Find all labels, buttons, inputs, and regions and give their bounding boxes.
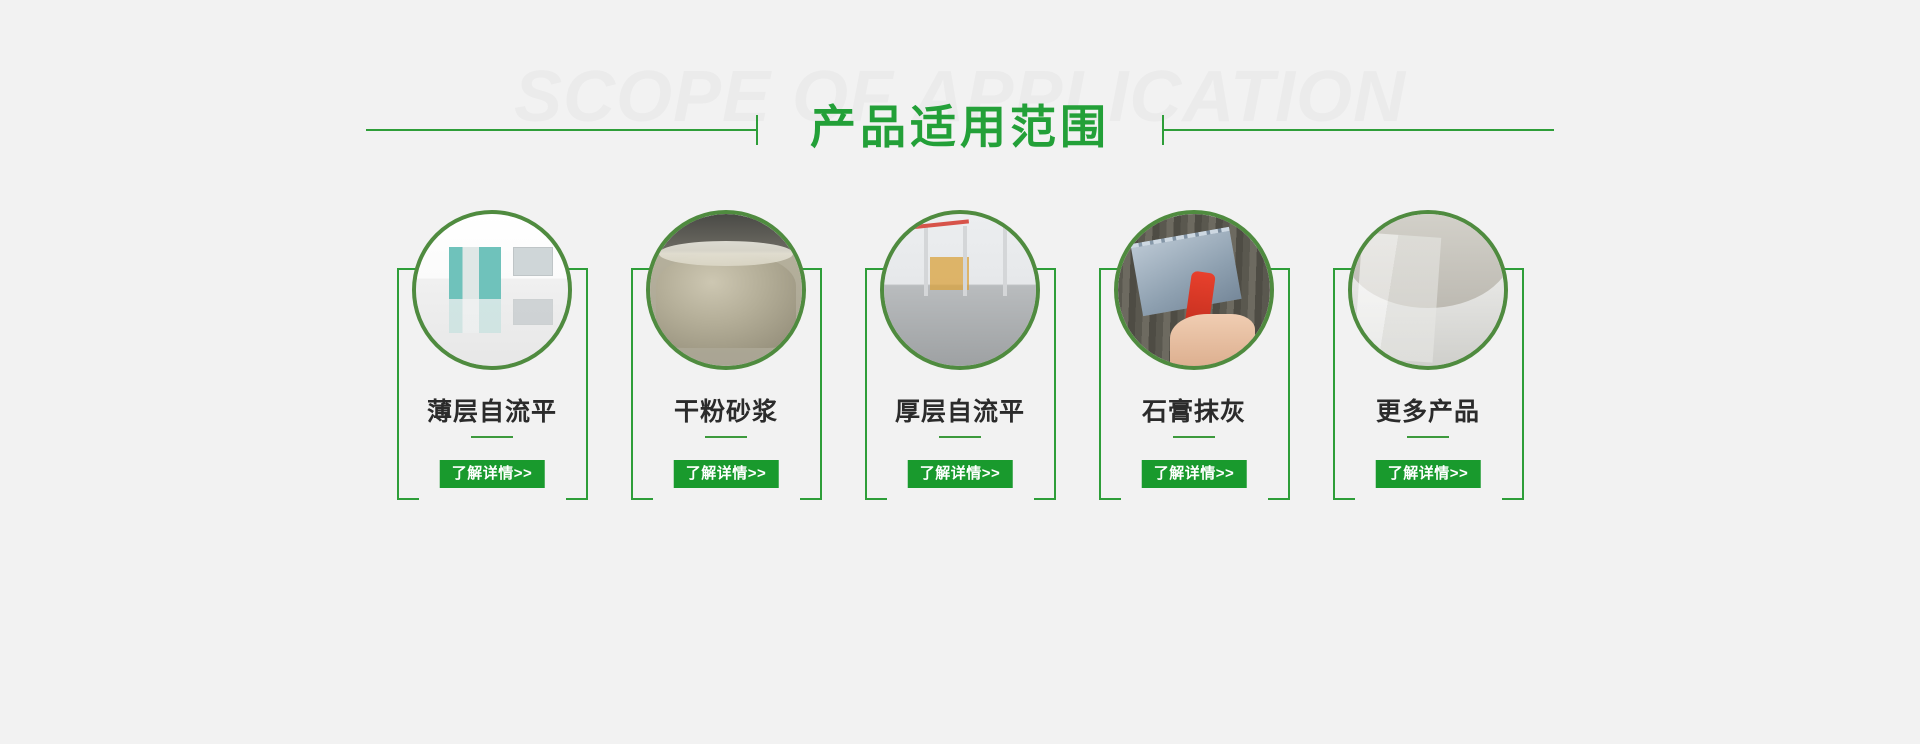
frame-corner-bottom-right: [1268, 498, 1290, 500]
frame-left-edge: [865, 268, 867, 500]
frame-right-edge: [586, 268, 588, 500]
frame-corner-bottom-left: [397, 498, 419, 500]
learn-more-button[interactable]: 了解详情>>: [908, 460, 1013, 488]
card-title: 更多产品: [1326, 392, 1531, 428]
frame-right-edge: [1054, 268, 1056, 500]
title-tick-left: [756, 115, 758, 145]
product-card[interactable]: 厚层自流平 了解详情>>: [858, 210, 1063, 510]
dry-powder-mortar-bag-photo: [650, 214, 802, 366]
card-thumbnail[interactable]: [412, 210, 572, 370]
frame-corner-bottom-right: [1034, 498, 1056, 500]
learn-more-button[interactable]: 了解详情>>: [674, 460, 779, 488]
product-card-list: 薄层自流平 了解详情>> 干粉砂浆 了解详情>>: [0, 210, 1920, 530]
frame-right-edge: [1288, 268, 1290, 500]
card-title: 石膏抹灰: [1092, 392, 1297, 428]
frame-right-edge: [820, 268, 822, 500]
card-title: 厚层自流平: [858, 392, 1063, 428]
frame-corner-bottom-left: [1099, 498, 1121, 500]
card-thumbnail[interactable]: [880, 210, 1040, 370]
more-products-disc-photo: [1352, 214, 1504, 366]
card-divider: [471, 436, 513, 438]
title-row: 产品适用范围: [0, 104, 1920, 156]
card-divider: [705, 436, 747, 438]
card-thumbnail[interactable]: [646, 210, 806, 370]
product-card[interactable]: 干粉砂浆 了解详情>>: [624, 210, 829, 510]
thin-layer-self-leveling-floor-photo: [416, 214, 568, 366]
page-title: 产品适用范围: [806, 104, 1114, 156]
frame-corner-bottom-left: [1333, 498, 1355, 500]
frame-left-edge: [631, 268, 633, 500]
frame-left-edge: [1333, 268, 1335, 500]
learn-more-button[interactable]: 了解详情>>: [1376, 460, 1481, 488]
title-rule-left: [366, 129, 756, 131]
product-card[interactable]: 更多产品 了解详情>>: [1326, 210, 1531, 510]
application-scope-section: SCOPE OF APPLICATION 产品适用范围: [0, 0, 1920, 744]
card-divider: [1173, 436, 1215, 438]
frame-corner-bottom-right: [1502, 498, 1524, 500]
learn-more-button[interactable]: 了解详情>>: [440, 460, 545, 488]
frame-left-edge: [1099, 268, 1101, 500]
card-thumbnail[interactable]: [1114, 210, 1274, 370]
frame-right-edge: [1522, 268, 1524, 500]
card-divider: [1407, 436, 1449, 438]
product-card[interactable]: 石膏抹灰 了解详情>>: [1092, 210, 1297, 510]
card-title: 薄层自流平: [390, 392, 595, 428]
frame-left-edge: [397, 268, 399, 500]
frame-corner-bottom-right: [800, 498, 822, 500]
card-divider: [939, 436, 981, 438]
title-rule-right: [1164, 129, 1554, 131]
thick-layer-self-leveling-warehouse-photo: [884, 214, 1036, 366]
frame-corner-bottom-left: [631, 498, 653, 500]
card-thumbnail[interactable]: [1348, 210, 1508, 370]
section-header: SCOPE OF APPLICATION 产品适用范围: [0, 0, 1920, 210]
card-title: 干粉砂浆: [624, 392, 829, 428]
learn-more-button[interactable]: 了解详情>>: [1142, 460, 1247, 488]
frame-corner-bottom-left: [865, 498, 887, 500]
product-card[interactable]: 薄层自流平 了解详情>>: [390, 210, 595, 510]
frame-corner-bottom-right: [566, 498, 588, 500]
gypsum-plastering-trowel-photo: [1118, 214, 1270, 366]
